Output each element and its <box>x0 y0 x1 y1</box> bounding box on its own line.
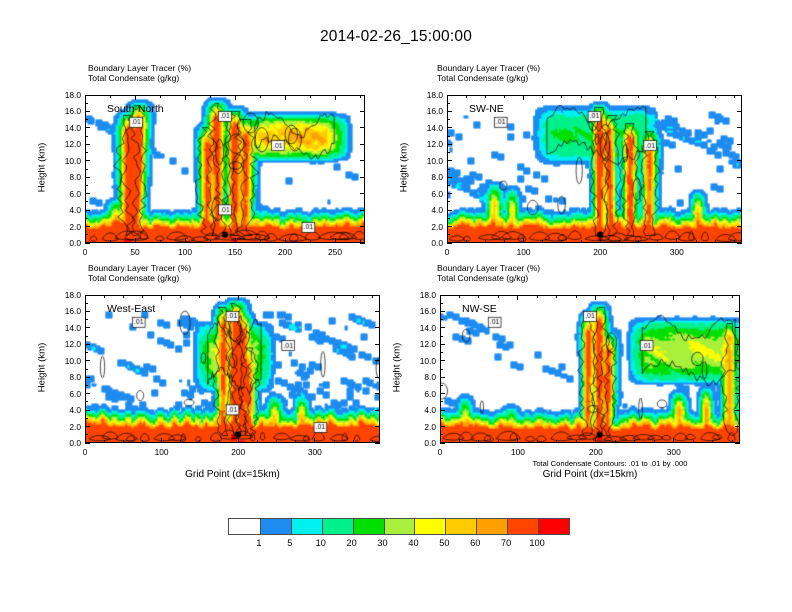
y-tick-label: 0.0 <box>406 438 436 448</box>
x-tick-label: 300 <box>670 247 684 257</box>
y-tick-label: 10.0 <box>51 156 81 166</box>
colorbar-label-50: 50 <box>439 538 449 548</box>
page-title: 2014-02-26_15:00:00 <box>0 28 792 46</box>
panel-header-sw-ne: Boundary Layer Tracer (%)Total Condensat… <box>437 63 540 84</box>
y-tick-label: 16.0 <box>51 106 81 116</box>
x-tick-label: 100 <box>178 247 192 257</box>
header-line-tracer: Boundary Layer Tracer (%) <box>88 63 191 73</box>
header-line-condensate: Total Condensate (g/kg) <box>437 273 540 283</box>
field-canvas-sw-ne <box>448 96 741 242</box>
header-line-tracer: Boundary Layer Tracer (%) <box>88 263 191 273</box>
header-line-condensate: Total Condensate (g/kg) <box>88 273 191 283</box>
plot-area-sw-ne[interactable] <box>447 95 742 243</box>
colorbar-cell-2[interactable] <box>291 519 322 534</box>
x-tick-label: 200 <box>231 447 245 457</box>
y-tick-label: 12.0 <box>51 139 81 149</box>
colorbar-cell-8[interactable] <box>476 519 507 534</box>
y-tick-label: 14.0 <box>51 323 81 333</box>
y-tick-label: 0.0 <box>413 238 443 248</box>
x-tick-label: 100 <box>155 447 169 457</box>
x-axis-title: Grid Point (dx=15km) <box>543 469 638 480</box>
y-tick-label: 10.0 <box>413 156 443 166</box>
contour-note: Total Condensate Contours: .01 to .01 by… <box>533 459 688 468</box>
colorbar-label-100: 100 <box>529 538 544 548</box>
header-line-tracer: Boundary Layer Tracer (%) <box>437 63 540 73</box>
header-line-condensate: Total Condensate (g/kg) <box>437 73 540 83</box>
y-axis-title: Height (km) <box>399 94 410 242</box>
header-line-tracer: Boundary Layer Tracer (%) <box>437 263 540 273</box>
y-tick-label: 12.0 <box>51 339 81 349</box>
colorbar-label-30: 30 <box>377 538 387 548</box>
y-tick-label: 18.0 <box>406 290 436 300</box>
y-tick-label: 18.0 <box>413 90 443 100</box>
x-tick-label: 0 <box>438 447 443 457</box>
colorbar-labels: 1510203040506070100 <box>228 538 568 552</box>
x-tick-label: 200 <box>278 247 292 257</box>
x-tick-label: 100 <box>511 447 525 457</box>
colorbar-label-20: 20 <box>347 538 357 548</box>
colorbar-cell-7[interactable] <box>445 519 476 534</box>
x-tick-label: 300 <box>667 447 681 457</box>
y-tick-label: 18.0 <box>51 90 81 100</box>
y-tick-label: 2.0 <box>51 422 81 432</box>
colorbar-label-60: 60 <box>470 538 480 548</box>
y-tick-label: 2.0 <box>406 422 436 432</box>
y-tick-label: 10.0 <box>51 356 81 366</box>
colorbar-label-10: 10 <box>316 538 326 548</box>
x-axis-title: Grid Point (dx=15km) <box>185 469 280 480</box>
y-tick-label: 6.0 <box>51 189 81 199</box>
y-axis-title: Height (km) <box>37 294 48 442</box>
y-tick-label: 16.0 <box>51 306 81 316</box>
header-line-condensate: Total Condensate (g/kg) <box>88 73 191 83</box>
x-tick-label: 250 <box>328 247 342 257</box>
y-tick-label: 4.0 <box>406 405 436 415</box>
x-tick-label: 50 <box>130 247 139 257</box>
panel-header-nw-se: Boundary Layer Tracer (%)Total Condensat… <box>437 263 540 284</box>
y-tick-label: 6.0 <box>51 389 81 399</box>
x-tick-label: 200 <box>589 447 603 457</box>
y-tick-label: 4.0 <box>51 405 81 415</box>
y-tick-label: 8.0 <box>51 372 81 382</box>
y-axis-title: Height (km) <box>37 94 48 242</box>
y-tick-label: 12.0 <box>413 139 443 149</box>
panel-header-west-east: Boundary Layer Tracer (%)Total Condensat… <box>88 263 191 284</box>
field-canvas-nw-se <box>441 296 739 442</box>
colorbar-cell-4[interactable] <box>353 519 384 534</box>
x-tick-label: 0 <box>83 447 88 457</box>
panel-header-south-north: Boundary Layer Tracer (%)Total Condensat… <box>88 63 191 84</box>
y-tick-label: 16.0 <box>413 106 443 116</box>
colorbar-cell-5[interactable] <box>384 519 415 534</box>
colorbar-label-40: 40 <box>408 538 418 548</box>
y-tick-label: 14.0 <box>51 123 81 133</box>
x-tick-label: 0 <box>83 247 88 257</box>
plot-area-south-north[interactable] <box>85 95 365 243</box>
y-tick-label: 2.0 <box>51 222 81 232</box>
x-tick-label: 200 <box>593 247 607 257</box>
field-canvas-west-east <box>86 296 379 442</box>
colorbar-cell-0[interactable] <box>229 519 260 534</box>
y-tick-label: 18.0 <box>51 290 81 300</box>
y-tick-label: 2.0 <box>413 222 443 232</box>
colorbar-label-70: 70 <box>501 538 511 548</box>
plot-area-west-east[interactable] <box>85 295 380 443</box>
colorbar: 1510203040506070100 <box>228 518 568 555</box>
y-tick-label: 0.0 <box>51 238 81 248</box>
y-tick-label: 6.0 <box>413 189 443 199</box>
x-tick-label: 100 <box>517 247 531 257</box>
colorbar-cell-3[interactable] <box>322 519 353 534</box>
y-tick-label: 14.0 <box>413 123 443 133</box>
y-tick-label: 8.0 <box>413 172 443 182</box>
y-tick-label: 8.0 <box>406 372 436 382</box>
colorbar-label-5: 5 <box>287 538 292 548</box>
colorbar-cell-6[interactable] <box>414 519 445 534</box>
y-tick-label: 4.0 <box>51 205 81 215</box>
y-tick-label: 12.0 <box>406 339 436 349</box>
x-tick-label: 300 <box>308 447 322 457</box>
colorbar-cell-9[interactable] <box>507 519 538 534</box>
field-canvas-south-north <box>86 96 364 242</box>
colorbar-label-1: 1 <box>256 538 261 548</box>
colorbar-cell-10[interactable] <box>538 519 569 534</box>
colorbar-cell-1[interactable] <box>260 519 291 534</box>
y-tick-label: 8.0 <box>51 172 81 182</box>
x-tick-label: 0 <box>445 247 450 257</box>
y-axis-title: Height (km) <box>392 294 403 442</box>
colorbar-cells[interactable] <box>228 518 570 535</box>
y-tick-label: 4.0 <box>413 205 443 215</box>
y-tick-label: 16.0 <box>406 306 436 316</box>
y-tick-label: 6.0 <box>406 389 436 399</box>
x-tick-label: 150 <box>228 247 242 257</box>
y-tick-label: 10.0 <box>406 356 436 366</box>
y-tick-label: 14.0 <box>406 323 436 333</box>
plot-area-nw-se[interactable] <box>440 295 740 443</box>
y-tick-label: 0.0 <box>51 438 81 448</box>
